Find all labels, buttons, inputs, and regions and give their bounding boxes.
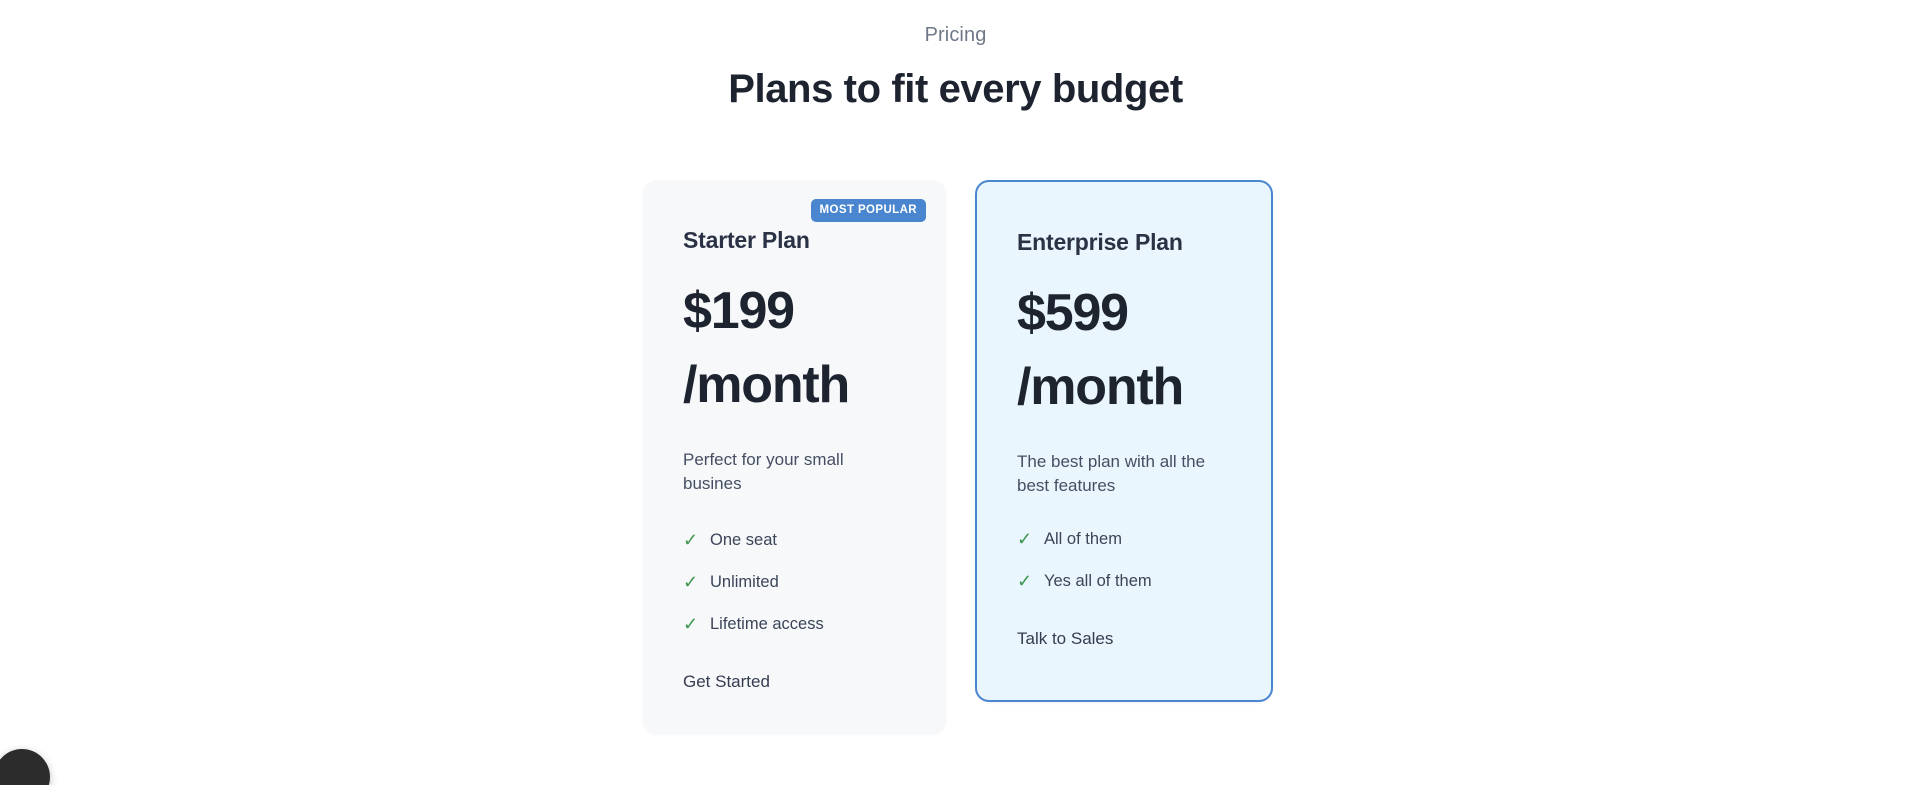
feature-label: Lifetime access bbox=[710, 613, 824, 635]
chat-widget-button[interactable] bbox=[0, 749, 50, 785]
feature-label: Unlimited bbox=[710, 571, 779, 593]
feature-list-enterprise: ✓ All of them ✓ Yes all of them bbox=[1017, 528, 1231, 592]
page-title: Plans to fit every budget bbox=[0, 64, 1911, 114]
plan-period-starter: /month bbox=[683, 354, 906, 416]
check-icon: ✓ bbox=[683, 615, 699, 633]
eyebrow-label: Pricing bbox=[0, 22, 1911, 48]
most-popular-badge: MOST POPULAR bbox=[811, 199, 926, 222]
plan-name-enterprise: Enterprise Plan bbox=[1017, 227, 1231, 257]
feature-label: All of them bbox=[1044, 528, 1122, 550]
plan-description-enterprise: The best plan with all the best features bbox=[1017, 450, 1217, 498]
check-icon: ✓ bbox=[1017, 530, 1033, 548]
pricing-card-starter[interactable]: MOST POPULAR Starter Plan $199 /month Pe… bbox=[643, 180, 946, 734]
list-item: ✓ All of them bbox=[1017, 528, 1231, 550]
plan-price-enterprise: $599 bbox=[1017, 282, 1231, 344]
list-item: ✓ Unlimited bbox=[683, 571, 906, 593]
plan-name-starter: Starter Plan bbox=[683, 225, 906, 255]
check-icon: ✓ bbox=[1017, 572, 1033, 590]
feature-label: One seat bbox=[710, 529, 777, 551]
get-started-button[interactable]: Get Started bbox=[683, 670, 770, 694]
list-item: ✓ Lifetime access bbox=[683, 613, 906, 635]
talk-to-sales-button[interactable]: Talk to Sales bbox=[1017, 627, 1113, 651]
feature-list-starter: ✓ One seat ✓ Unlimited ✓ Lifetime access bbox=[683, 529, 906, 635]
list-item: ✓ Yes all of them bbox=[1017, 570, 1231, 592]
pricing-page: Pricing Plans to fit every budget MOST P… bbox=[0, 0, 1911, 785]
feature-label: Yes all of them bbox=[1044, 570, 1152, 592]
plan-price-starter: $199 bbox=[683, 280, 906, 342]
page-header: Pricing Plans to fit every budget bbox=[0, 0, 1911, 114]
check-icon: ✓ bbox=[683, 531, 699, 549]
plan-description-starter: Perfect for your small busines bbox=[683, 448, 893, 496]
list-item: ✓ One seat bbox=[683, 529, 906, 551]
pricing-card-enterprise[interactable]: Enterprise Plan $599 /month The best pla… bbox=[975, 180, 1273, 702]
pricing-cards-container: MOST POPULAR Starter Plan $199 /month Pe… bbox=[643, 180, 1273, 734]
plan-period-enterprise: /month bbox=[1017, 356, 1231, 418]
check-icon: ✓ bbox=[683, 573, 699, 591]
